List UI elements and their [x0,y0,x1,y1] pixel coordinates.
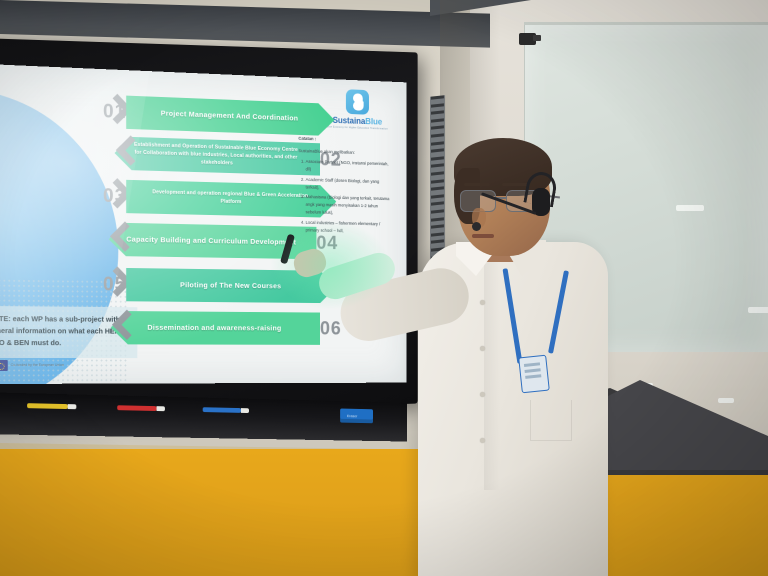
wp-number: 06 [320,318,342,340]
presentation-slide: Objectives WORK PACKAGES (WP) 01/12/2023… [0,64,407,384]
presenter [380,150,640,576]
chevron-left-icon [114,136,139,170]
eraser-label: Eraser [347,413,357,418]
chevron-left-icon [111,311,136,344]
wp-label: Establishment and Operation of Sustainab… [114,136,319,175]
whiteboard-light-reflection [718,398,734,403]
slide-side-note: Catatan : SustainaBlue akan melibatkan: … [298,135,391,238]
whiteboard-light-reflection [676,205,704,211]
eyebrow [464,183,490,186]
side-note-item: Associate Partner (NGO, instansi pemerin… [306,158,391,176]
wp-label: Project Management And Coordination [126,96,334,137]
camera-mount-icon [519,33,536,45]
eu-funding-text: Co-funded by the European Union [11,363,64,368]
eu-flag-icon [0,360,8,371]
chevron-left-icon [109,223,134,257]
chevron-right-icon [103,95,128,129]
wp-label-text: Establishment and Operation of Sustainab… [130,142,302,170]
whiteboard-light-reflection [748,307,768,313]
id-badge [518,355,550,394]
side-note-item: Academic Staff (dosen Biologi, dan yang … [306,176,391,194]
work-package-item: 01 Project Management And Coordination [103,95,335,137]
work-package-item: Dissemination and awareness-raising 06 [111,311,342,345]
chevron-right-icon [103,268,128,302]
presenter-mouth [472,234,494,238]
blue-stylus[interactable] [203,407,241,413]
eu-funding-footer: Co-funded by the European Union [0,360,64,371]
shirt-button [480,300,485,305]
side-note-item: Local industries – fishermen elementary … [306,219,391,236]
whiteboard-top-edge [524,22,768,25]
red-stylus[interactable] [117,405,156,411]
wp-label-text: Development and operation regional Blue … [141,189,318,208]
shirt-button [480,438,485,443]
chevron-right-icon [103,179,128,213]
side-note-list: Associate Partner (NGO, instansi pemerin… [298,158,391,236]
wp-label: Dissemination and awareness-raising [111,311,320,345]
eyebrow [502,183,528,186]
side-note-item: Mahasiswa (Biologi dan yang terkait, ter… [306,193,391,218]
yellow-stylus[interactable] [27,403,68,409]
shirt-button [480,346,485,351]
side-note-lead: SustainaBlue akan melibatkan: [298,147,391,158]
shirt-placket [484,260,500,490]
shirt-pocket [530,400,572,441]
classroom-scene: Slide 1 Objectives WORK PACKAGES (WP) 01… [0,0,768,576]
eraser[interactable]: Eraser [340,409,373,424]
shirt-button [480,392,485,397]
microphone-icon [472,222,481,231]
